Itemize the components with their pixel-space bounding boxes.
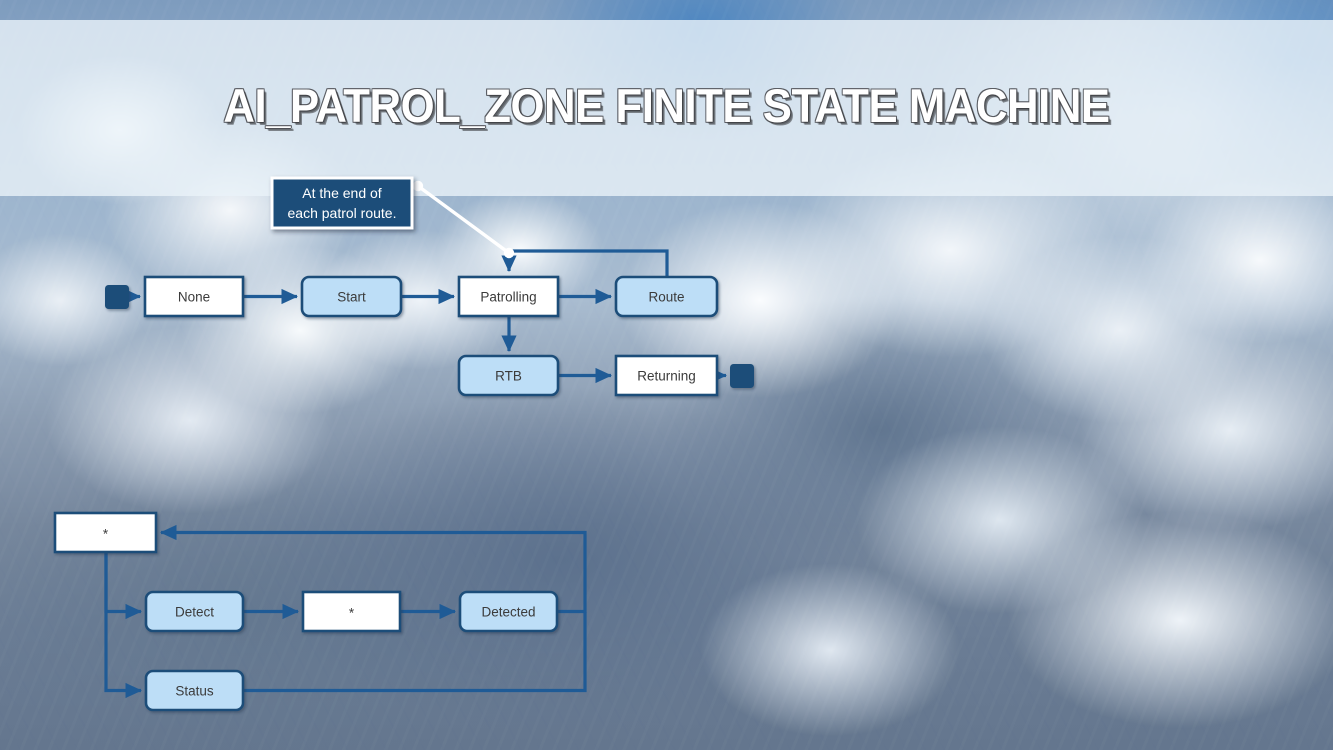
- callout-leader-line: [418, 186, 509, 253]
- node-returning[interactable]: Returning: [616, 356, 717, 395]
- node-start-label: Start: [337, 290, 366, 305]
- state-machine-diagram: None Start Patrolling Route RTB Returnin…: [0, 0, 1333, 750]
- node-any-top[interactable]: *: [55, 513, 156, 552]
- node-route-label: Route: [648, 290, 684, 305]
- callout-line-1: At the end of: [302, 185, 382, 201]
- node-route[interactable]: Route: [616, 277, 717, 316]
- node-status[interactable]: Status: [146, 671, 243, 710]
- node-status-label: Status: [175, 684, 214, 699]
- start-terminal: [105, 285, 129, 309]
- edge-route-to-patrolling-loop: [509, 251, 667, 277]
- node-rtb-label: RTB: [495, 369, 522, 384]
- node-returning-label: Returning: [637, 369, 696, 384]
- node-detect-label: Detect: [175, 605, 214, 620]
- callout-leader: [413, 181, 514, 258]
- callout-line-2: each patrol route.: [288, 205, 397, 221]
- node-patrolling-label: Patrolling: [480, 290, 536, 305]
- node-detect[interactable]: Detect: [146, 592, 243, 631]
- node-any-top-label: *: [103, 527, 109, 542]
- node-detected-label: Detected: [481, 605, 535, 620]
- node-detected[interactable]: Detected: [460, 592, 557, 631]
- slide-canvas: AI_PATROL_ZONE FINITE STATE MACHINE: [0, 0, 1333, 750]
- node-any-mid-label: *: [349, 606, 355, 621]
- node-rtb[interactable]: RTB: [459, 356, 558, 395]
- callout-leader-end-dot: [504, 248, 514, 258]
- patrol-route-callout[interactable]: At the end of each patrol route.: [272, 178, 412, 228]
- edge-any-to-detect: [106, 552, 141, 612]
- node-none[interactable]: None: [145, 277, 243, 316]
- callout-leader-start-dot: [413, 181, 423, 191]
- node-any-mid[interactable]: *: [303, 592, 400, 631]
- node-patrolling[interactable]: Patrolling: [459, 277, 558, 316]
- edge-any-to-status: [106, 552, 141, 691]
- end-terminal: [730, 364, 754, 388]
- node-none-label: None: [178, 290, 210, 305]
- node-start[interactable]: Start: [302, 277, 401, 316]
